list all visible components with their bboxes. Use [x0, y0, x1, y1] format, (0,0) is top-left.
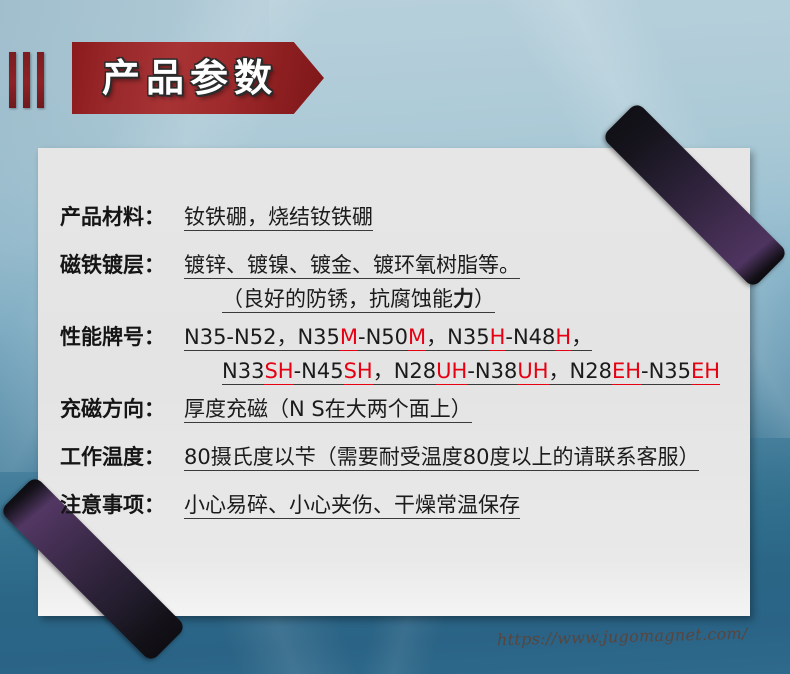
title-banner: 产品参数: [72, 42, 324, 114]
spec-list: 产品材料： 钕铁硼，烧结钕铁硼 磁铁镀层： 镀锌、镀镍、镀金、镀环氧树脂等。 （…: [60, 200, 736, 536]
spec-subtext-part2: ）: [474, 287, 495, 311]
title-accent-bar: [23, 52, 30, 108]
spec-value-text: 小心易碎、小心夹伤、干燥常温保存: [184, 493, 520, 519]
title-accent-bars: [9, 52, 65, 108]
spec-row-temperature: 工作温度： 80摄氏度以芐（需要耐受温度80度以上的请联系客服）: [60, 440, 736, 484]
spec-value-text: 厚度充磁（N S在大两个面上）: [184, 397, 472, 423]
grade-text: ，N28: [549, 359, 612, 383]
spec-label: 充磁方向：: [60, 393, 184, 423]
spec-subtext-part1: （良好的防锈，抗腐蚀能: [222, 287, 453, 311]
spec-subtext-emphasis: 力: [453, 287, 474, 311]
spec-value-text: 镀锌、镀镍、镀金、镀环氧树脂等。: [184, 253, 520, 279]
spec-row-grade: 性能牌号： N35-N52，N35M-N50M，N35H-N48H， N33SH…: [60, 320, 736, 388]
grade-suffix-sh1: SH: [264, 359, 293, 385]
spec-card: 产品材料： 钕铁硼，烧结钕铁硼 磁铁镀层： 镀锌、镀镍、镀金、镀环氧树脂等。 （…: [38, 148, 750, 616]
grade-text: -N45: [294, 359, 344, 383]
spec-row-notes: 注意事项： 小心易碎、小心夹伤、干燥常温保存: [60, 488, 736, 532]
grade-suffix-m2: M: [408, 325, 426, 351]
spec-value: N35-N52，N35M-N50M，N35H-N48H， N33SH-N45SH…: [184, 320, 736, 388]
page-title: 产品参数: [72, 59, 278, 97]
grade-text: -N50: [358, 325, 408, 349]
spec-label: 注意事项：: [60, 489, 184, 519]
grade-text: ，: [571, 325, 592, 349]
title-accent-bar: [37, 52, 44, 108]
grade-text: -N38: [467, 359, 517, 383]
grade-text: ，N28: [373, 359, 436, 383]
spec-row-magnetization: 充磁方向： 厚度充磁（N S在大两个面上）: [60, 392, 736, 436]
spec-label: 工作温度：: [60, 441, 184, 471]
grade-suffix-h1: H: [490, 325, 506, 351]
spec-value-text: 80摄氏度以芐（需要耐受温度80度以上的请联系客服）: [184, 445, 699, 471]
spec-value: 钕铁硼，烧结钕铁硼: [184, 200, 736, 234]
spec-label: 磁铁镀层：: [60, 249, 184, 279]
spec-value: 镀锌、镀镍、镀金、镀环氧树脂等。 （良好的防锈，抗腐蚀能力）: [184, 248, 736, 316]
title-accent-bar: [9, 52, 16, 108]
grade-suffix-sh2: SH: [344, 359, 373, 385]
spec-row-material: 产品材料： 钕铁硼，烧结钕铁硼: [60, 200, 736, 244]
spec-grade-subline: N33SH-N45SH，N28UH-N38UH，N28EH-N35EH: [184, 354, 736, 388]
grade-suffix-eh2: EH: [691, 359, 720, 385]
spec-value-subline: （良好的防锈，抗腐蚀能力）: [184, 282, 736, 316]
grade-suffix-m1: M: [340, 325, 358, 351]
grade-text: -N48: [505, 325, 555, 349]
spec-label: 性能牌号：: [60, 321, 184, 351]
spec-label: 产品材料：: [60, 201, 184, 231]
spec-value-subtext: （良好的防锈，抗腐蚀能力）: [222, 287, 495, 313]
grade-suffix-uh2: UH: [517, 359, 548, 385]
grade-suffix-h2: H: [555, 325, 571, 351]
spec-value: 80摄氏度以芐（需要耐受温度80度以上的请联系客服）: [184, 440, 736, 474]
spec-value: 小心易碎、小心夹伤、干燥常温保存: [184, 488, 736, 522]
spec-grade-line-1: N35-N52，N35M-N50M，N35H-N48H，: [184, 325, 592, 351]
spec-grade-line-2: N33SH-N45SH，N28UH-N38UH，N28EH-N35EH: [222, 359, 720, 385]
product-spec-banner: 产品参数 产品材料： 钕铁硼，烧结钕铁硼 磁铁镀层： 镀锌、镀镍、镀金、镀环氧树…: [0, 0, 790, 674]
grade-text: N33: [222, 359, 264, 383]
grade-suffix-eh1: EH: [612, 359, 641, 385]
grade-text: -N35: [641, 359, 691, 383]
spec-value: 厚度充磁（N S在大两个面上）: [184, 392, 736, 426]
grade-text: N35-N52，N35: [184, 325, 340, 349]
grade-suffix-uh1: UH: [436, 359, 467, 385]
grade-text: ，N35: [426, 325, 489, 349]
spec-row-coating: 磁铁镀层： 镀锌、镀镍、镀金、镀环氧树脂等。 （良好的防锈，抗腐蚀能力）: [60, 248, 736, 316]
spec-value-text: 钕铁硼，烧结钕铁硼: [184, 205, 373, 231]
